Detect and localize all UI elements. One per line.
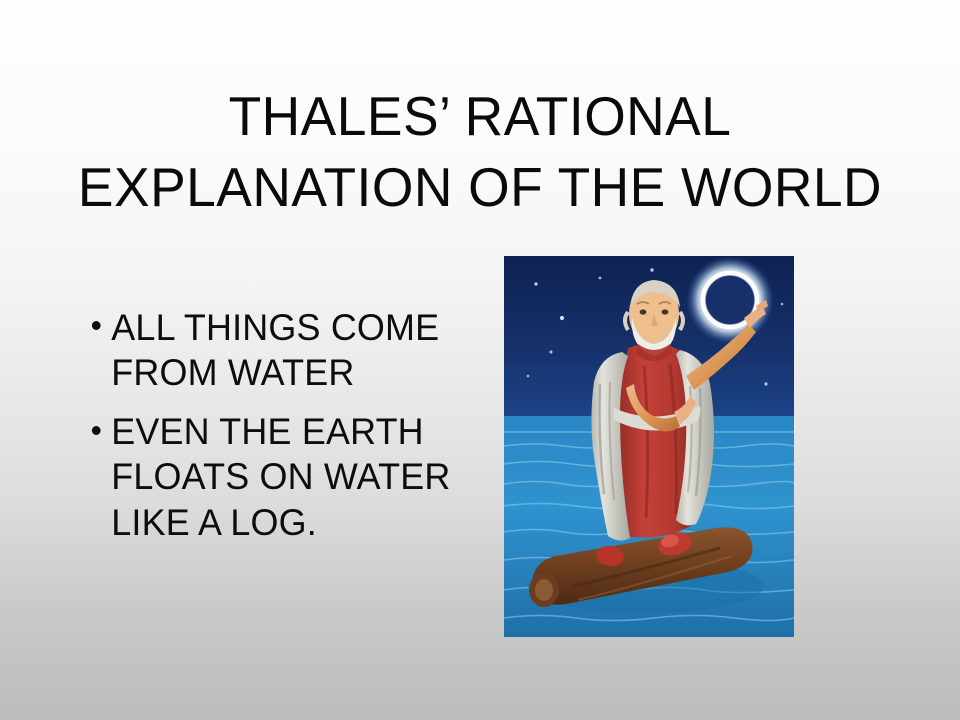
eclipse-icon <box>686 256 774 344</box>
list-item: Even the earth floats on water like a lo… <box>88 409 476 544</box>
slide-canvas: Thales’ Rational Explanation of the Worl… <box>0 0 960 720</box>
thales-on-log-illustration <box>504 256 794 637</box>
list-item-label: All things come from water <box>111 307 439 393</box>
bullet-dot-icon <box>92 321 101 330</box>
bullet-list: All things come from water Even the eart… <box>88 305 488 545</box>
bullet-dot-icon <box>92 426 101 435</box>
page-title: Thales’ Rational Explanation of the Worl… <box>53 81 907 224</box>
list-item-label: Even the earth floats on water like a lo… <box>111 411 450 542</box>
list-item: All things come from water <box>88 305 476 395</box>
